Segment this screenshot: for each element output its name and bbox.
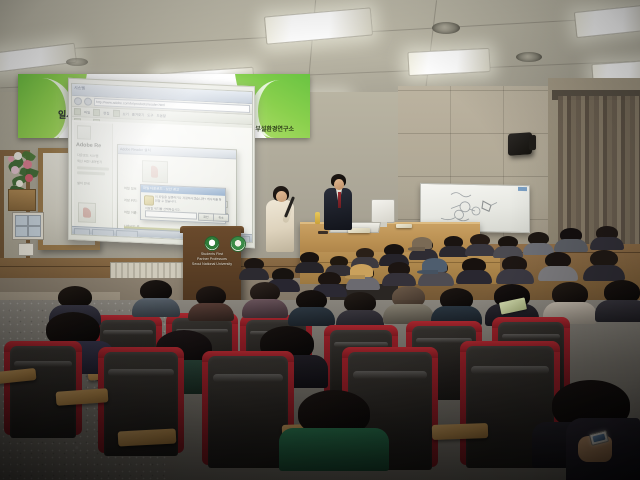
shoulders [583,265,626,281]
seat-sheen [108,369,173,376]
ceiling-light [407,48,490,76]
audience-member [250,282,280,315]
desk-object [318,231,328,234]
seat-armrest [432,423,488,440]
audience-member [444,236,463,255]
menu-item[interactable]: 도구 [147,112,153,117]
presenter-woman-face [276,191,287,202]
shoulders [496,269,534,284]
dialog-field-label: 저장 위치: [124,197,138,203]
audience-member [462,258,486,282]
audience-member [470,234,490,254]
seat-sheen [14,361,72,367]
wall-speaker-icon [508,132,532,156]
sidebar-bar [77,171,105,175]
seat-back [208,356,288,468]
start-button[interactable] [74,228,90,236]
shoulders [538,266,578,281]
shoulders [132,298,181,318]
adobe-logo-icon [77,125,91,140]
university-crest-icon [205,236,220,251]
seat-sheen [334,342,389,347]
browser-content-area: Adobe Re 다운로드 시스템 최신 버전 내려받기 설치 안내 Adobe… [72,120,252,242]
shoulders [554,239,587,252]
host-man-face [334,179,344,190]
shoulders [465,244,495,256]
ceiling-speaker-icon [66,58,88,66]
audience-member [244,258,264,278]
audience-member [498,236,518,256]
audience-member [502,256,527,281]
audience-member [596,226,618,248]
host-man-tie [338,192,341,208]
audience-member [560,228,582,250]
shoulders [188,303,234,322]
shoulders [595,300,640,322]
menu-icon[interactable] [113,110,120,117]
menu-item[interactable]: 즐겨찾기 [132,112,144,118]
shoulders [239,268,269,280]
wall-outlet[interactable] [18,243,34,256]
shoulders [456,270,492,284]
crt-monitor [371,199,395,223]
shoulders [590,237,623,250]
menu-item[interactable]: 파일 [84,109,90,114]
menu-item[interactable]: 편집 [103,110,109,115]
dialog-field-label: 파일 이름: [124,209,138,215]
projected-browser-window: 시스템 http://www.adobe.com/kr/products/rea… [71,83,253,243]
audience-member [388,262,410,284]
shoulders [346,277,379,290]
auditorium-photo: 2 학술대회 일시 대학부설환경연구소 시스템 http://www.adobe… [0,0,640,480]
shoulders [288,307,335,326]
shoulders [418,272,454,286]
shoulders [439,246,468,257]
podium-side-emblem-icon [230,236,246,252]
window-curtain [558,96,640,246]
menu-item[interactable]: 보기 [123,111,129,116]
sidebar-line: 다운로드 시스템 [77,152,98,158]
audience-member-front [298,390,370,464]
shoulders [279,428,388,471]
seat-armrest [118,428,177,446]
water-bottle [315,212,320,224]
seat-sheen [103,330,152,334]
audience-member [528,232,549,253]
ceiling-speaker-icon [516,52,542,62]
file-thumbnail-icon [142,160,168,183]
seat-sheen [502,334,560,339]
sidebar-line: 설치 안내 [77,180,90,186]
forward-icon[interactable] [84,97,92,105]
modal-cancel-button[interactable]: 취소 [213,213,229,222]
sidebar-line: 최신 버전 내려받기 [77,158,102,164]
page-heading: Adobe Re [76,142,101,149]
audience-member [440,288,473,323]
whiteboard-marker-tray-icon [518,187,527,191]
audience-member [552,282,588,320]
desk-papers [396,224,412,228]
menu-icon[interactable] [93,109,100,116]
podium-text: Students First Partner Professors Seoul … [187,252,237,267]
page-sidebar: Adobe Re 다운로드 시스템 최신 버전 내려받기 설치 안내 [74,122,113,234]
audience-member [296,290,327,323]
menu-item[interactable]: 도움말 [156,113,165,118]
back-icon[interactable] [74,97,82,105]
auditorium-seat[interactable] [208,356,288,468]
podium-line: Seoul National University [187,262,237,267]
security-warning-modal: 파일 다운로드 - 보안 경고 이 파일을 실행하거나 저장하시겠습니까? 게시… [140,184,226,224]
modal-message: 이 파일을 실행하거나 저장하시겠습니까? 게시자를 확인할 수 없습니다. [155,195,222,206]
modal-input[interactable] [145,210,197,219]
audience-cap [350,264,373,277]
menu-icon[interactable] [74,108,81,115]
dialog-thumb-label: 파일 정보 [124,185,137,191]
seat-sheen [471,366,548,375]
audience-member [590,250,618,278]
audience-member [140,280,172,314]
shoulders [382,273,415,286]
audience-member [545,252,571,278]
projection-screen: 시스템 http://www.adobe.com/kr/products/rea… [68,78,255,248]
flower-basket-holder [8,189,36,211]
ceiling-speaker-icon [432,22,460,34]
seat-sheen [353,371,427,379]
taskbar-item[interactable] [92,229,114,237]
audience-member [344,292,376,326]
wall-switch-panel[interactable] [12,212,44,240]
pdf-file-icon [78,202,96,223]
shoulders [242,299,288,318]
dialog-title: Adobe Reader 설치 [118,145,236,159]
modal-ok-button[interactable]: 확인 [198,213,214,222]
audience-member [604,280,640,318]
audience-member [384,244,404,264]
warning-icon [144,195,154,205]
audience-member [196,286,226,318]
audience-member [392,286,425,321]
modal-title: 파일 다운로드 - 보안 경고 [141,185,225,196]
seat-sheen [213,374,283,382]
sidebar-bar [77,166,109,170]
audience-cap [412,237,432,249]
taskbar-item[interactable] [116,230,138,238]
audience-member [300,252,319,271]
audience-cap [422,258,447,272]
